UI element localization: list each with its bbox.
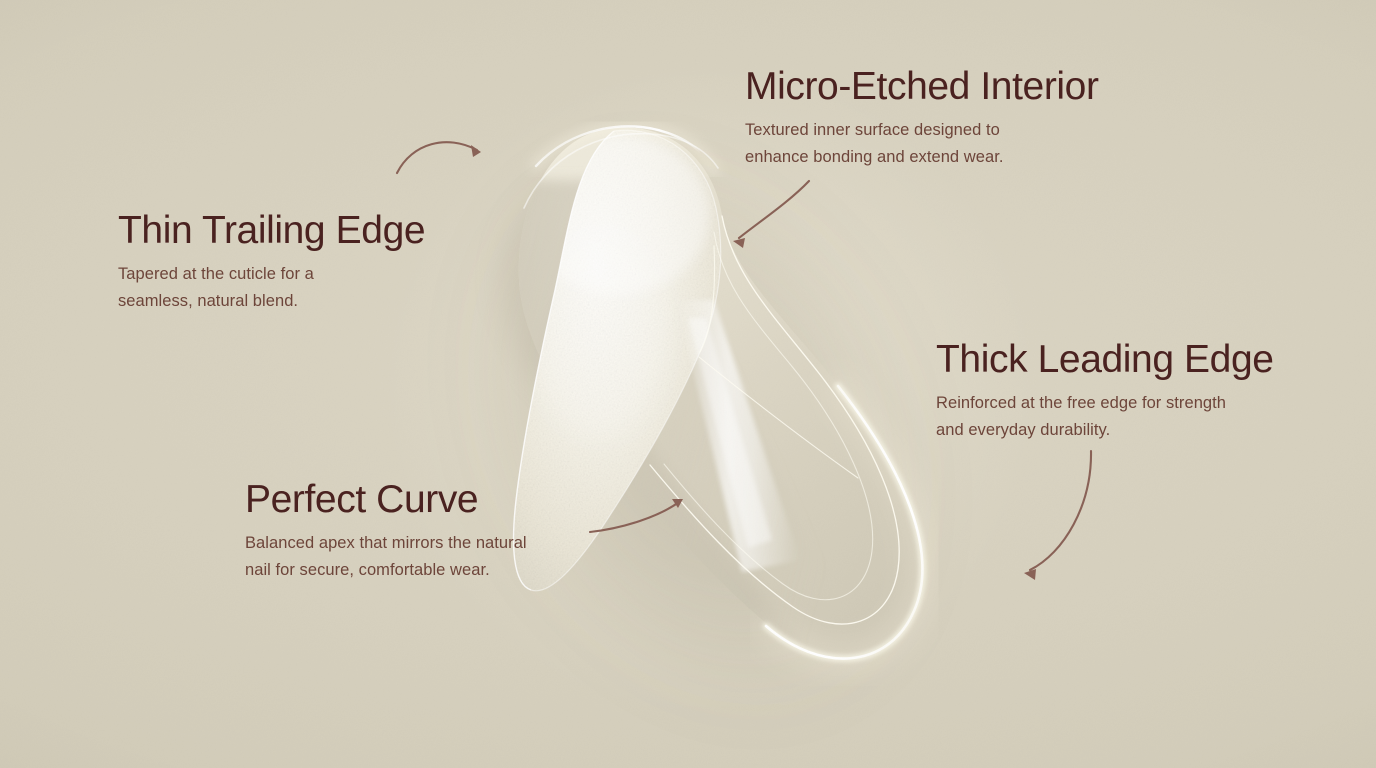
callout-thin-trailing-edge: Thin Trailing Edge Tapered at the cuticl… bbox=[118, 211, 425, 314]
callout-title: Micro-Etched Interior bbox=[745, 67, 1099, 108]
callout-title: Thick Leading Edge bbox=[936, 340, 1274, 381]
callout-body: Balanced apex that mirrors the natural n… bbox=[245, 530, 527, 583]
callout-body: Textured inner surface designed to enhan… bbox=[745, 117, 1099, 170]
feature-callout-canvas: Thin Trailing Edge Tapered at the cuticl… bbox=[0, 0, 1376, 768]
callout-micro-etched-interior: Micro-Etched Interior Textured inner sur… bbox=[745, 67, 1099, 170]
callout-title: Thin Trailing Edge bbox=[118, 211, 425, 252]
callout-body: Reinforced at the free edge for strength… bbox=[936, 390, 1274, 443]
callout-title: Perfect Curve bbox=[245, 480, 527, 521]
callout-body: Tapered at the cuticle for a seamless, n… bbox=[118, 261, 425, 314]
callout-perfect-curve: Perfect Curve Balanced apex that mirrors… bbox=[245, 480, 527, 583]
callout-thick-leading-edge: Thick Leading Edge Reinforced at the fre… bbox=[936, 340, 1274, 443]
